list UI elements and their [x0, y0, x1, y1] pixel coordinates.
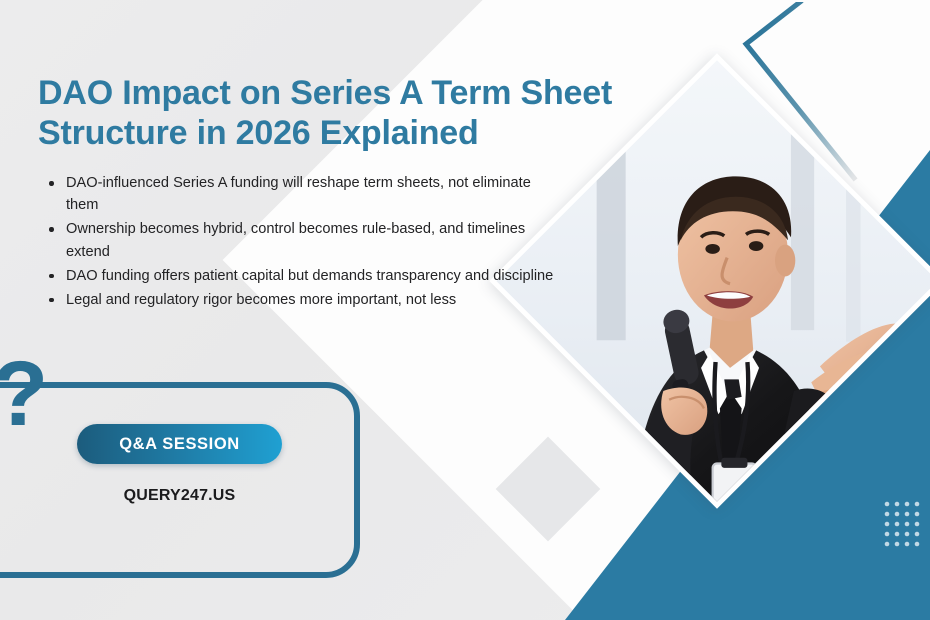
list-item: Legal and regulatory rigor becomes more … [40, 289, 555, 311]
list-item: DAO funding offers patient capital but d… [40, 265, 555, 287]
page-title: DAO Impact on Series A Term Sheet Struct… [38, 73, 718, 154]
qa-session-badge[interactable]: Q&A SESSION [77, 424, 282, 464]
dot-grid-icon [884, 501, 926, 551]
site-url: QUERY247.US [77, 487, 282, 505]
chevron-left-accent-icon [742, 2, 862, 182]
question-mark-icon: ? [0, 348, 48, 440]
list-item: Ownership becomes hybrid, control become… [40, 218, 555, 262]
presentation-slide: DAO Impact on Series A Term Sheet Struct… [0, 0, 930, 620]
qa-outline-card [0, 382, 360, 578]
status-badge: Q&A SESSION [119, 435, 240, 454]
list-item: DAO-influenced Series A funding will res… [40, 172, 555, 216]
key-points-list: DAO-influenced Series A funding will res… [40, 172, 555, 313]
